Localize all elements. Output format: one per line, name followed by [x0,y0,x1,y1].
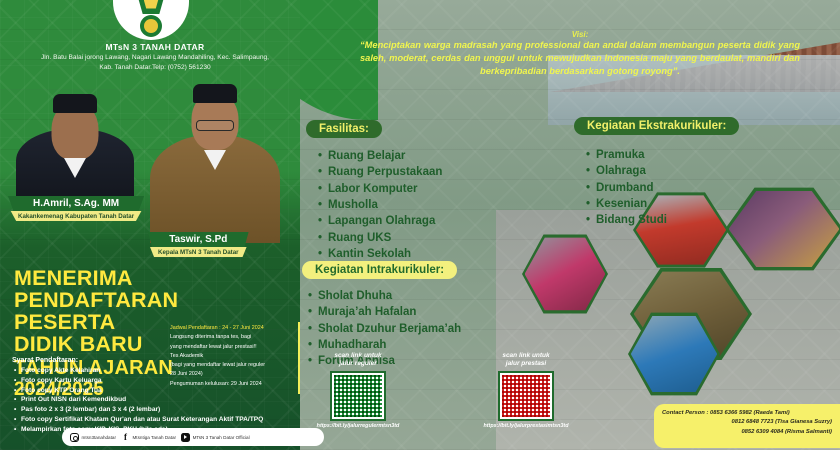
fasilitas-list: Ruang Belajar Ruang Perpustakaan Labor K… [318,148,442,262]
schedule-line-2: Langsung diterima tanpa tes, bagi [170,333,294,342]
qr-pattern [502,375,550,417]
section-title-fasilitas: Fasilitas: [306,120,382,138]
qr-caption-line-2: jalur prestasi [452,360,600,368]
qr-url-prestasi[interactable]: https://bit.ly/jalurprestasimtsn3td [452,423,600,429]
requirement-item: Foto copy Sertifikat Khatam Qur'an dan a… [12,415,292,425]
section-title-intrakurikuler: Kegiatan Intrakurikuler: [302,261,457,279]
peci-cap-icon [53,94,97,113]
ekstrakurikuler-item: Drumband [586,180,667,196]
contact-line-2[interactable]: 0812 6848 7723 (Tisa Gianesa Suzry) [662,418,832,427]
facebook-icon: f [121,433,130,442]
social-handle: Mtsntiga Tanah Datar [132,435,176,440]
section-title-ekstrakurikuler: Kegiatan Ekstrakurikuler: [574,117,739,135]
instagram-icon [70,433,79,442]
vision-body: “Menciptakan warga madrasah yang profess… [360,39,800,79]
schedule-line-1: Jadwal Pendaftaran : 24 - 27 Juni 2024 [170,324,294,333]
official-name: Taswir, S.Pd [148,232,249,247]
requirement-item: Pas foto 2 x 3 (2 lembar) dan 3 x 4 (2 l… [12,405,292,415]
qr-caption-line-1: scan link untuk [452,352,600,360]
fasilitas-item: Labor Komputer [318,181,442,197]
intrakurikuler-item: Sholat Dhuha [308,288,461,304]
peci-cap-icon [193,84,237,103]
social-handle: mtsn3tanahdatar [82,435,116,440]
qr-caption-line-2: jalur reguler [288,360,428,368]
official-name: H.Amril, S.Ag. MM [8,196,144,211]
official-nameplate-2: Taswir, S.Pd Kepala MTsN 3 Tanah Datar [148,232,249,257]
ekstrakurikuler-item: Pramuka [586,147,667,163]
qr-url-reguler[interactable]: https://bit.ly/jalurregulermtsn3td [288,423,428,429]
official-role: Kepala MTsN 3 Tanah Datar [148,247,249,257]
vision-block: Visi: “Menciptakan warga madrasah yang p… [360,30,800,79]
ekstrakurikuler-item: Kesenian [586,196,667,212]
schedule-line-5: (bagi yang mendaftar lewat jalur reguler [170,361,294,370]
fasilitas-item: Lapangan Olahraga [318,213,442,229]
official-nameplate-1: H.Amril, S.Ag. MM Kakankemenag Kabupaten… [8,196,144,221]
qr-caption-line-1: scan link untuk [288,352,428,360]
contact-block: Contact Person : 0853 6366 5982 (Raeda T… [654,404,840,448]
madrasah-logo-icon [140,15,162,37]
contact-line-1[interactable]: Contact Person : 0853 6366 5982 (Raeda T… [662,409,832,418]
ekstrakurikuler-item: Olahraga [586,163,667,179]
intrakurikuler-item: Muraja’ah Hafalan [308,304,461,320]
qr-pattern [334,375,382,417]
official-portrait-2 [150,68,280,243]
schedule-line-3: yang mendaftar lewat jalur prestasi!! [170,343,294,352]
social-handle: MTsN 3 Tanah Datar Official [193,435,250,440]
social-facebook[interactable]: f Mtsntiga Tanah Datar [121,433,176,442]
vision-title: Visi: [360,30,800,39]
intrakurikuler-item: Sholat Dzuhur Berjama’ah [308,321,461,337]
fasilitas-item: Musholla [318,197,442,213]
contact-line-3[interactable]: 0852 6309 4084 (Risma Salmanti) [662,428,832,437]
qr-code-prestasi-icon[interactable] [498,371,554,421]
official-role: Kakankemenag Kabupaten Tanah Datar [8,211,144,221]
eyeglasses-icon [196,120,234,131]
fasilitas-item: Ruang UKS [318,230,442,246]
headline-line-1: MENERIMA [14,268,284,290]
youtube-icon [181,433,190,442]
kemenag-logo-icon [138,0,164,14]
official-portrait-1 [16,80,134,208]
school-address: Jln. Batu Balai jorong Lawang, Nagari La… [35,53,275,72]
schedule-line-6: 28 Juni 2024) [170,370,294,379]
schedule-line-7: Pengumuman kelulusan: 29 Juni 2024 [170,380,294,389]
admission-poster: MTsN 3 TANAH DATAR Jln. Batu Balai joron… [0,0,840,450]
intrakurikuler-item: Muhadharah [308,337,461,353]
fasilitas-item: Ruang Perpustakaan [318,164,442,180]
fasilitas-item: Kantin Sekolah [318,246,442,262]
ekstrakurikuler-item: Bidang Studi [586,212,667,228]
qr-block-prestasi[interactable]: scan link untuk jalur prestasi https://b… [452,352,600,429]
schedule-line-4: Tes Akademik [170,352,294,361]
social-media-bar: mtsn3tanahdatar f Mtsntiga Tanah Datar M… [62,428,324,446]
social-youtube[interactable]: MTsN 3 Tanah Datar Official [181,433,250,442]
qr-code-reguler-icon[interactable] [330,371,386,421]
schedule-callout: Jadwal Pendaftaran : 24 - 27 Juni 2024 L… [168,322,300,394]
ekstrakurikuler-list: Pramuka Olahraga Drumband Kesenian Bidan… [586,147,667,229]
requirement-item: Print Out NISN dari Kemendikbud [12,395,292,405]
qr-block-reguler[interactable]: scan link untuk jalur reguler https://bi… [288,352,428,429]
social-instagram[interactable]: mtsn3tanahdatar [70,433,116,442]
fasilitas-item: Ruang Belajar [318,148,442,164]
school-name: MTsN 3 TANAH DATAR [40,42,270,52]
